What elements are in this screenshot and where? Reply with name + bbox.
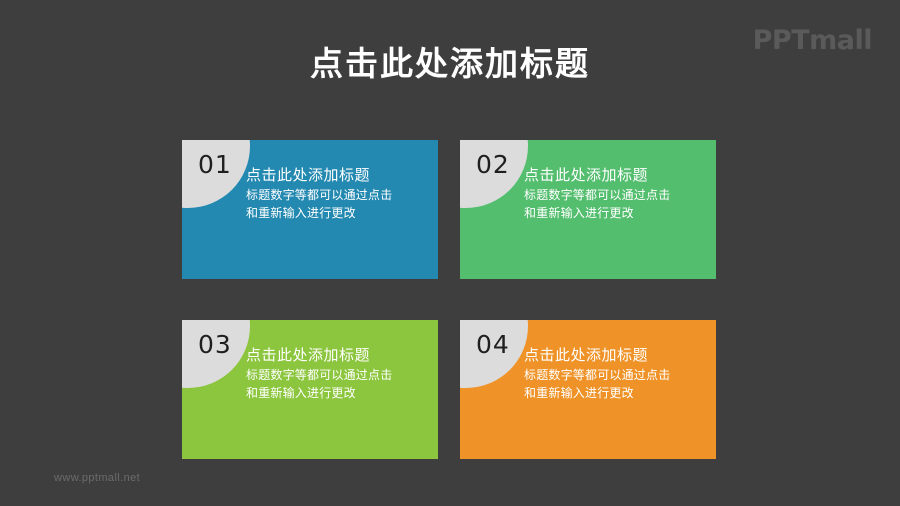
card-heading: 点击此处添加标题: [246, 166, 428, 186]
card-03[interactable]: 03 点击此处添加标题 标题数字等都可以通过点击 和重新输入进行更改: [182, 320, 438, 459]
page-title: 点击此处添加标题: [0, 44, 900, 84]
card-number: 01: [198, 152, 232, 177]
card-body: 点击此处添加标题 标题数字等都可以通过点击 和重新输入进行更改: [524, 166, 706, 222]
card-heading: 点击此处添加标题: [524, 166, 706, 186]
card-description-line-1: 标题数字等都可以通过点击: [524, 367, 706, 384]
card-description-line-1: 标题数字等都可以通过点击: [246, 187, 428, 204]
card-description: 标题数字等都可以通过点击 和重新输入进行更改: [524, 367, 706, 402]
card-body: 点击此处添加标题 标题数字等都可以通过点击 和重新输入进行更改: [246, 166, 428, 222]
card-description-line-2: 和重新输入进行更改: [524, 205, 706, 222]
card-number: 04: [476, 332, 510, 357]
card-02[interactable]: 02 点击此处添加标题 标题数字等都可以通过点击 和重新输入进行更改: [460, 140, 716, 279]
card-description-line-2: 和重新输入进行更改: [246, 385, 428, 402]
card-heading: 点击此处添加标题: [246, 346, 428, 366]
card-number: 03: [198, 332, 232, 357]
cards-grid: 01 点击此处添加标题 标题数字等都可以通过点击 和重新输入进行更改 02 点击…: [182, 140, 716, 459]
card-description-line-2: 和重新输入进行更改: [524, 385, 706, 402]
card-description: 标题数字等都可以通过点击 和重新输入进行更改: [246, 187, 428, 222]
card-04[interactable]: 04 点击此处添加标题 标题数字等都可以通过点击 和重新输入进行更改: [460, 320, 716, 459]
card-description: 标题数字等都可以通过点击 和重新输入进行更改: [246, 367, 428, 402]
card-description-line-2: 和重新输入进行更改: [246, 205, 428, 222]
card-description-line-1: 标题数字等都可以通过点击: [524, 187, 706, 204]
card-description: 标题数字等都可以通过点击 和重新输入进行更改: [524, 187, 706, 222]
card-number: 02: [476, 152, 510, 177]
card-heading: 点击此处添加标题: [524, 346, 706, 366]
footer-url: www.pptmall.net: [54, 472, 140, 484]
card-01[interactable]: 01 点击此处添加标题 标题数字等都可以通过点击 和重新输入进行更改: [182, 140, 438, 279]
card-body: 点击此处添加标题 标题数字等都可以通过点击 和重新输入进行更改: [524, 346, 706, 402]
card-description-line-1: 标题数字等都可以通过点击: [246, 367, 428, 384]
slide-canvas: PPTmall 点击此处添加标题 01 点击此处添加标题 标题数字等都可以通过点…: [0, 0, 900, 506]
card-body: 点击此处添加标题 标题数字等都可以通过点击 和重新输入进行更改: [246, 346, 428, 402]
